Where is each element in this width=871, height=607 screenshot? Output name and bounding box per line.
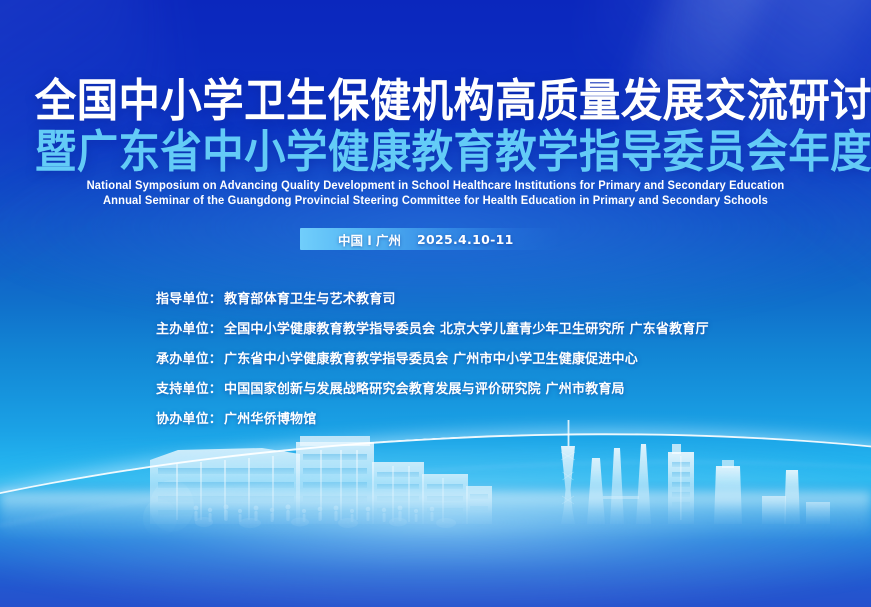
school-building bbox=[143, 436, 492, 537]
organizer-row: 协办单位： 广州华侨博物馆 bbox=[156, 408, 709, 427]
organizer-value: 广州华侨博物馆 bbox=[224, 408, 316, 427]
organizer-value: 教育部体育卫生与艺术教育司 bbox=[224, 288, 396, 307]
conference-poster: 全国中小学卫生保健机构高质量发展交流研讨活动 暨广东省中小学健康教育教学指导委员… bbox=[0, 0, 871, 607]
canton-tower bbox=[561, 420, 575, 524]
ground-haze bbox=[0, 492, 871, 538]
organizer-row: 承办单位： 广东省中小学健康教育教学指导委员会 广州市中小学卫生健康促进中心 bbox=[156, 348, 709, 367]
venue-date-banner: 中国 l 广州 2025.4.10-11 bbox=[300, 229, 590, 250]
event-date: 2025.4.10-11 bbox=[417, 232, 514, 247]
organizer-label: 承办单位： bbox=[156, 348, 222, 367]
organizer-list: 指导单位： 教育部体育卫生与艺术教育司 主办单位： 全国中小学健康教育教学指导委… bbox=[156, 288, 709, 427]
organizer-value: 全国中小学健康教育教学指导委员会 北京大学儿童青少年卫生研究所 广东省教育厅 bbox=[224, 318, 709, 337]
guangzhou-towers bbox=[587, 444, 830, 524]
organizer-row: 支持单位： 中国国家创新与发展战略研究会教育发展与评价研究院 广州市教育局 bbox=[156, 378, 709, 397]
organizer-row: 主办单位： 全国中小学健康教育教学指导委员会 北京大学儿童青少年卫生研究所 广东… bbox=[156, 318, 709, 337]
organizer-label: 指导单位： bbox=[156, 288, 222, 307]
organizer-value: 广东省中小学健康教育教学指导委员会 广州市中小学卫生健康促进中心 bbox=[224, 348, 638, 367]
organizer-row: 指导单位： 教育部体育卫生与艺术教育司 bbox=[156, 288, 709, 307]
light-arc-secondary bbox=[0, 401, 871, 607]
horizon-glow bbox=[0, 446, 871, 607]
organizer-value: 中国国家创新与发展战略研究会教育发展与评价研究院 广州市教育局 bbox=[224, 378, 625, 397]
organizer-label: 协办单位： bbox=[156, 408, 222, 427]
title-chinese-primary: 全国中小学卫生保健机构高质量发展交流研讨活动 bbox=[35, 78, 836, 123]
organizer-label: 主办单位： bbox=[156, 318, 222, 337]
title-chinese-secondary: 暨广东省中小学健康教育教学指导委员会年度研讨活动 bbox=[35, 129, 836, 174]
student-figures bbox=[194, 505, 435, 523]
venue-location: 中国 l 广州 bbox=[338, 230, 401, 249]
title-english-primary: National Symposium on Advancing Quality … bbox=[13, 180, 858, 192]
organizer-label: 支持单位： bbox=[156, 378, 222, 397]
title-english-secondary: Annual Seminar of the Guangdong Provinci… bbox=[13, 195, 858, 207]
